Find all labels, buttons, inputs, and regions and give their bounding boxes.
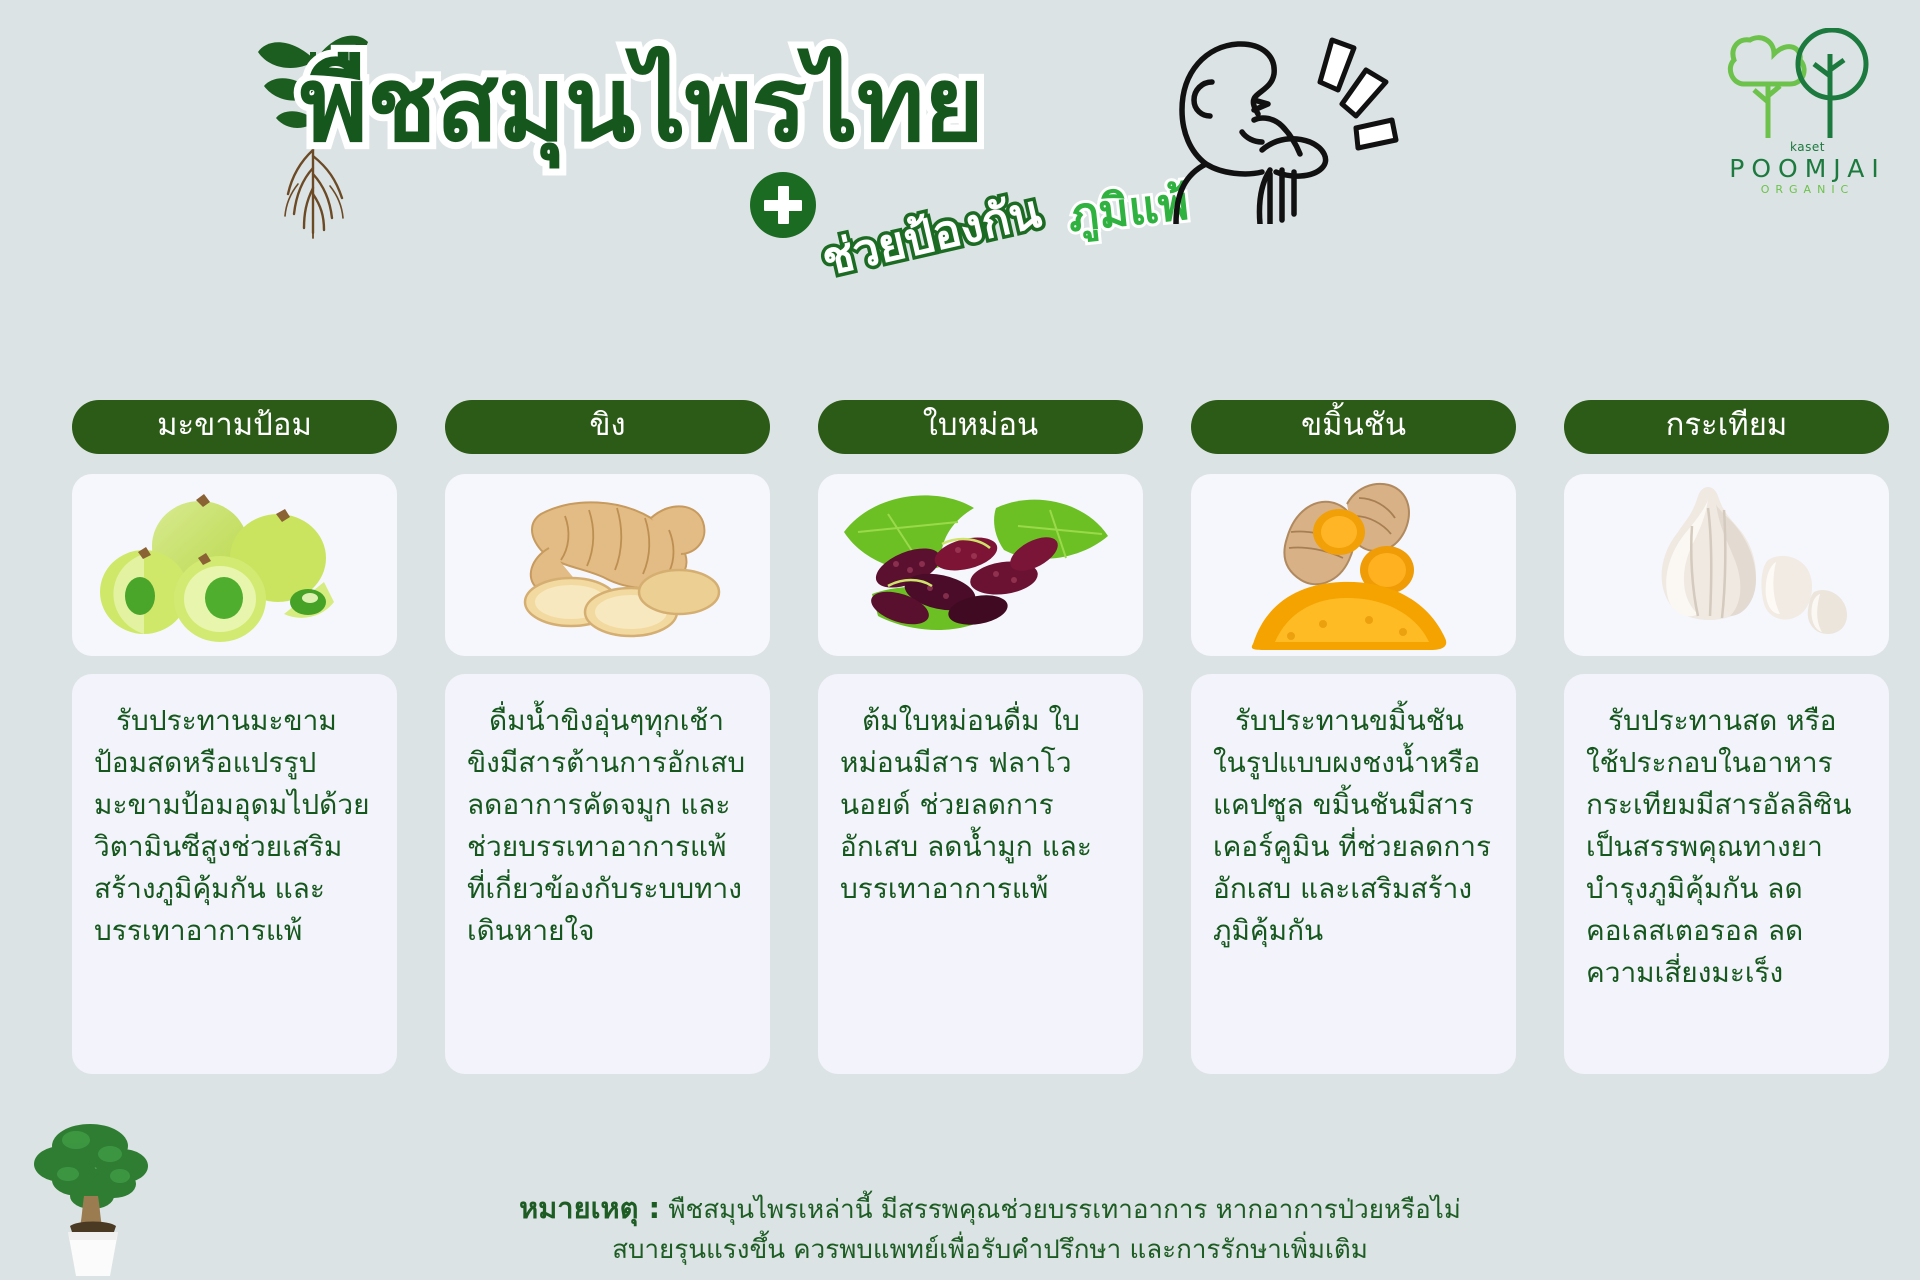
herb-card-garlic[interactable]: กระเทียม รับประทานส bbox=[1564, 400, 1889, 1074]
herb-card-turmeric[interactable]: ขมิ้นชัน bbox=[1191, 400, 1516, 1074]
potted-bonsai-plant-icon bbox=[18, 1118, 168, 1278]
herb-card-mulberry[interactable]: ใบหม่อน bbox=[818, 400, 1143, 1074]
card-text-ginger: ดื่มน้ำขิงอุ่นๆทุกเช้า ขิงมีสารต้านการอั… bbox=[467, 700, 748, 952]
card-title-ginger: ขิง bbox=[445, 400, 770, 454]
card-title-garlic: กระเทียม bbox=[1564, 400, 1889, 454]
subtitle-outline-text: ช่วยป้องกัน bbox=[818, 188, 1045, 283]
card-body-amla: รับประทานมะขามป้อมสดหรือแปรรูป มะขามป้อม… bbox=[72, 674, 397, 1074]
card-text-mulberry: ต้มใบหม่อนดื่ม ใบหม่อนมีสาร ฟลาโวนอยด์ ช… bbox=[840, 700, 1121, 910]
footnote-line-2: สบายรุนแรงขึ้น ควรพบแพทย์เพื่อรับคำปรึกษ… bbox=[340, 1230, 1640, 1270]
plus-vertical-bar bbox=[778, 186, 789, 224]
two-trees-logo-icon bbox=[1724, 28, 1892, 144]
logo-tagline-text: ORGANIC bbox=[1761, 183, 1855, 196]
herb-card-amla[interactable]: มะขามป้อม bbox=[72, 400, 397, 1074]
card-text-turmeric: รับประทานขมิ้นชันในรูปแบบผงชงน้ำหรือแคปซ… bbox=[1213, 700, 1494, 952]
plus-sign-icon bbox=[750, 172, 816, 238]
amla-indian-gooseberry-photo bbox=[72, 474, 397, 656]
card-text-garlic: รับประทานสด หรือใช้ประกอบในอาหาร กระเทีย… bbox=[1586, 700, 1867, 994]
herb-card-grid: มะขามป้อม bbox=[0, 400, 1920, 1120]
card-title-amla: มะขามป้อม bbox=[72, 400, 397, 454]
turmeric-powder-photo bbox=[1191, 474, 1516, 656]
logo-kaset-text: kaset bbox=[1790, 140, 1825, 154]
footnote-lead: หมายเหตุ : bbox=[519, 1191, 660, 1225]
brand-logo: kaset POOMJAI ORGANIC bbox=[1705, 28, 1910, 218]
herb-card-ginger[interactable]: ขิง bbox=[445, 400, 770, 1074]
card-text-amla: รับประทานมะขามป้อมสดหรือแปรรูป มะขามป้อม… bbox=[94, 700, 375, 952]
footnote-text-1: พืชสมุนไพรเหล่านี้ มีสรรพคุณช่วยบรรเทาอา… bbox=[668, 1195, 1461, 1225]
card-body-turmeric: รับประทานขมิ้นชันในรูปแบบผงชงน้ำหรือแคปซ… bbox=[1191, 674, 1516, 1074]
card-title-turmeric: ขมิ้นชัน bbox=[1191, 400, 1516, 454]
header-banner: พืชสมุนไพรไทย ช่วยป้องกัน ภูมิแพ้ bbox=[0, 0, 1920, 330]
card-body-mulberry: ต้มใบหม่อนดื่ม ใบหม่อนมีสาร ฟลาโวนอยด์ ช… bbox=[818, 674, 1143, 1074]
footer-note: หมายเหตุ : พืชสมุนไพรเหล่านี้ มีสรรพคุณช… bbox=[340, 1188, 1640, 1270]
card-body-ginger: ดื่มน้ำขิงอุ่นๆทุกเช้า ขิงมีสารต้านการอั… bbox=[445, 674, 770, 1074]
card-title-mulberry: ใบหม่อน bbox=[818, 400, 1143, 454]
footnote-line-1: หมายเหตุ : พืชสมุนไพรเหล่านี้ มีสรรพคุณช… bbox=[340, 1188, 1640, 1230]
mulberry-leaves-photo bbox=[818, 474, 1143, 656]
garlic-bulb-photo bbox=[1564, 474, 1889, 656]
ginger-root-photo bbox=[445, 474, 770, 656]
logo-name-text: POOMJAI bbox=[1729, 154, 1885, 183]
card-body-garlic: รับประทานสด หรือใช้ประกอบในอาหาร กระเทีย… bbox=[1564, 674, 1889, 1074]
sneezing-person-icon bbox=[1150, 24, 1410, 224]
